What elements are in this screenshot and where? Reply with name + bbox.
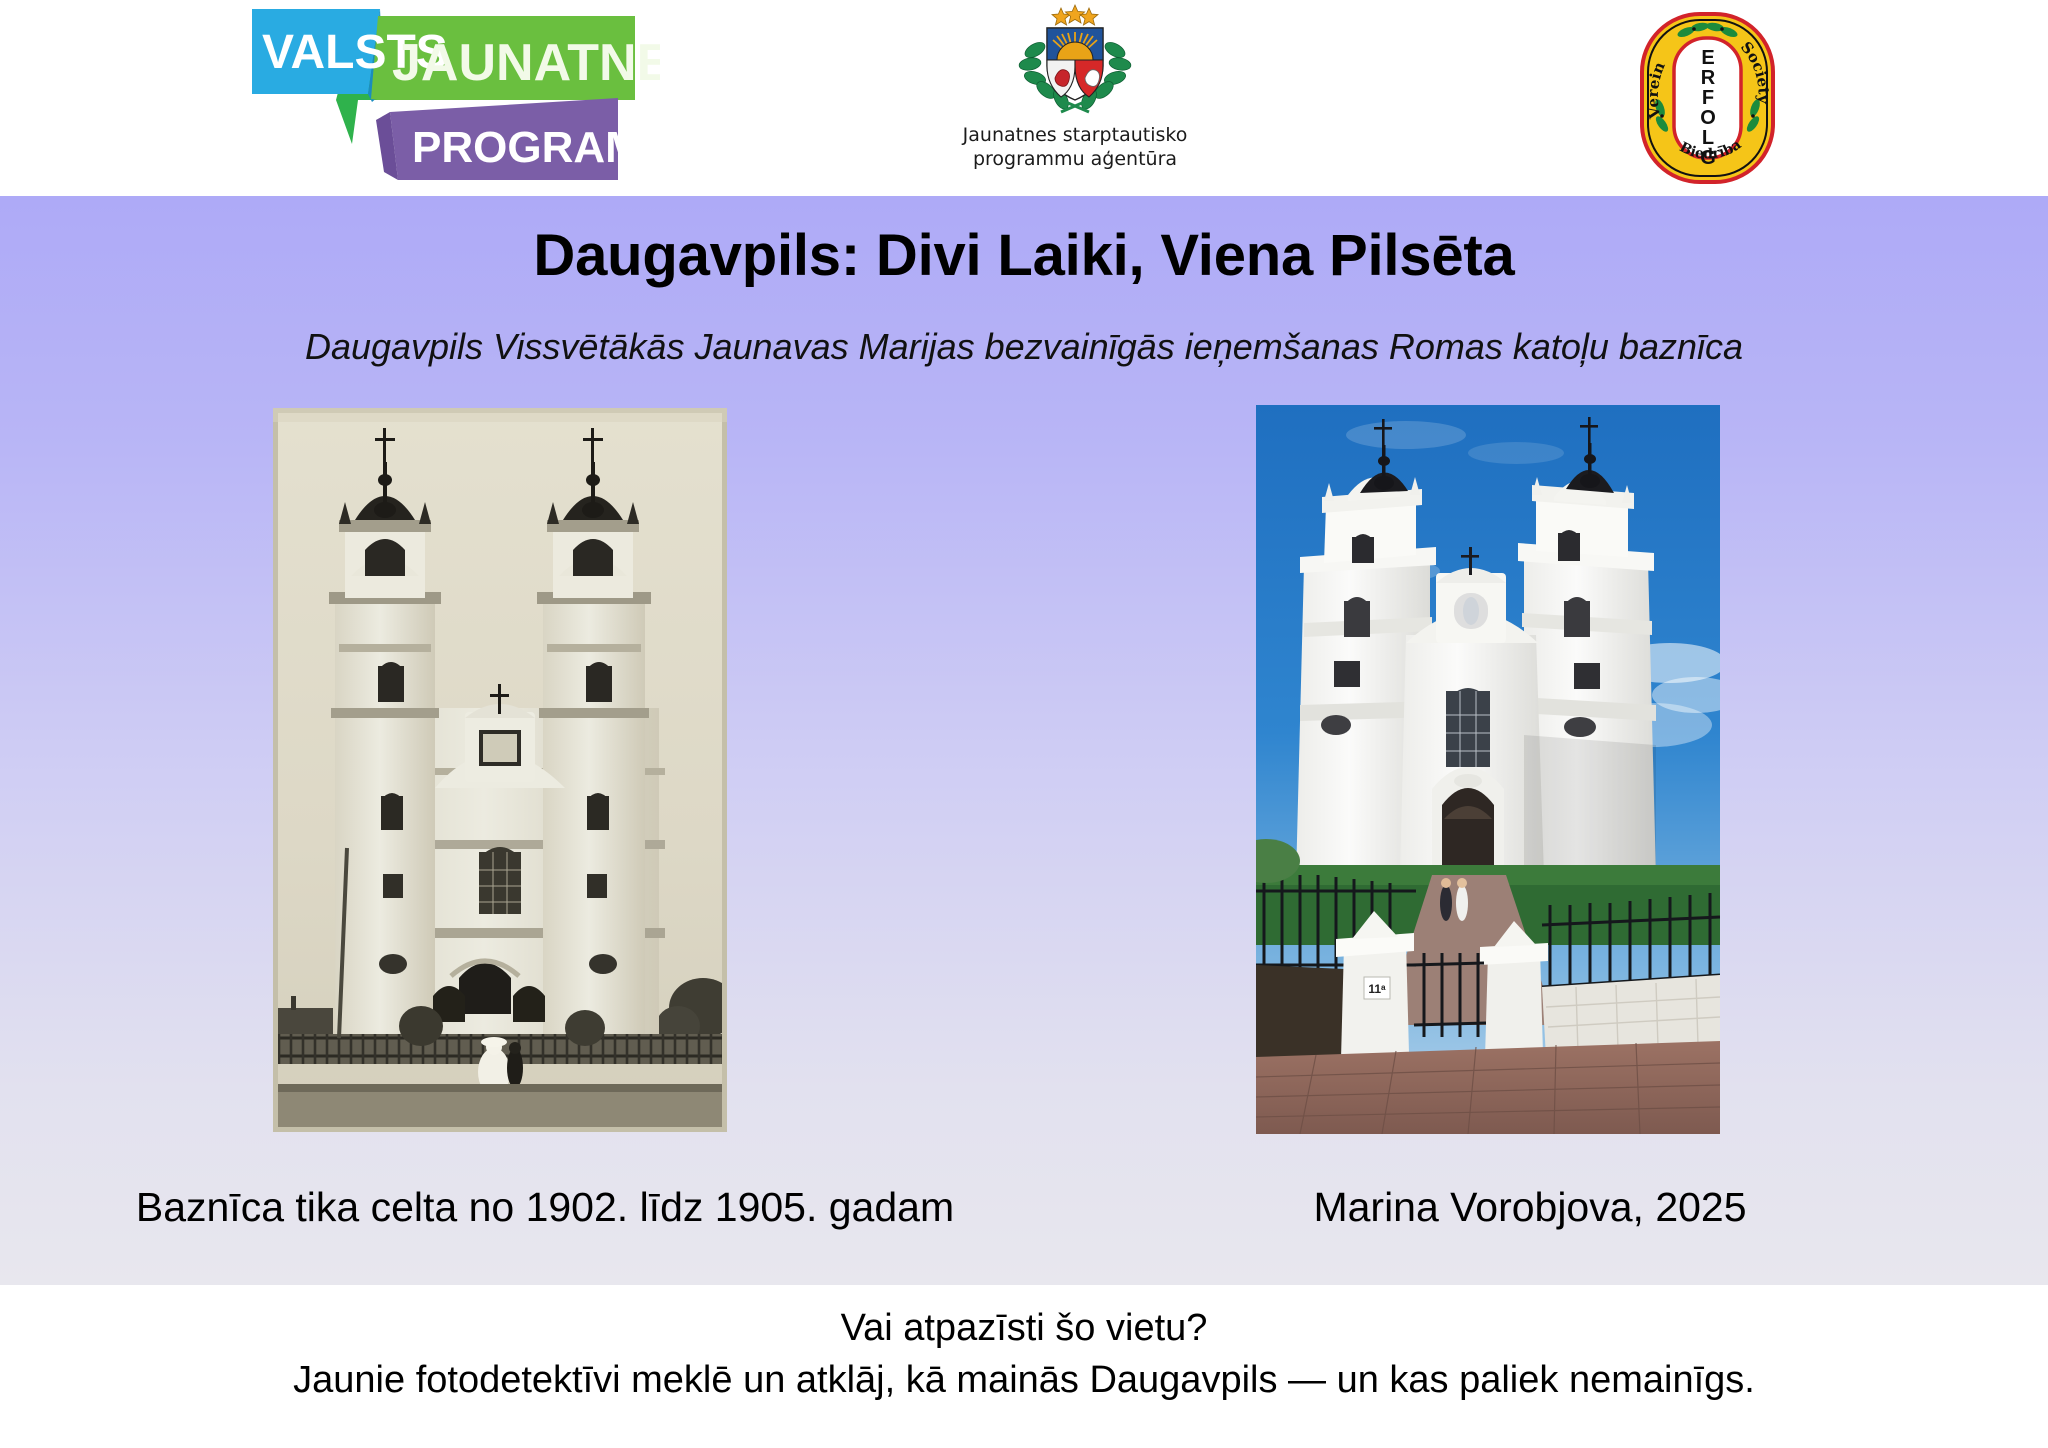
- valsts-jaunatnes-programma-logo: VALSTS JAUNATNES PROGRAMMA VALSTS JAUNAT…: [140, 4, 660, 186]
- gate-number-plate: 11ᵃ: [1368, 982, 1386, 996]
- agency-name-line1: Jaunatnes starptautisko: [950, 124, 1200, 148]
- svg-text:O: O: [1700, 107, 1716, 129]
- svg-text:PROGRAMMA: PROGRAMMA: [412, 123, 660, 172]
- footer-description: Jaunie fotodetektīvi meklē un atklāj, kā…: [0, 1359, 2048, 1402]
- svg-text:L: L: [1702, 127, 1714, 149]
- agency-block: Jaunatnes starptautisko programmu aģentū…: [950, 4, 1200, 172]
- historic-church-photo: [273, 408, 727, 1132]
- footer-question: Vai atpazīsti šo vietu?: [0, 1307, 2048, 1350]
- svg-text:JAUNATNES: JAUNATNES: [392, 34, 660, 92]
- latvia-coat-of-arms: [1013, 4, 1137, 122]
- historic-photo-caption: Baznīca tika celta no 1902. līdz 1905. g…: [0, 1184, 1090, 1231]
- header-bar: VALSTS JAUNATNES PROGRAMMA VALSTS JAUNAT…: [0, 0, 2048, 196]
- slide-body: Daugavpils: Divi Laiki, Viena Pilsēta Da…: [0, 196, 2048, 1285]
- modern-church-photo: 11ᵃ: [1256, 405, 1720, 1134]
- verein-erfolg-society-seal: Verein Society E R F O L G Biedrība: [1640, 12, 1775, 184]
- footer-bar: Vai atpazīsti šo vietu? Jaunie fotodetek…: [0, 1285, 2048, 1448]
- modern-photo-caption: Marina Vorobjova, 2025: [1090, 1184, 1970, 1231]
- agency-name-line2: programmu aģentūra: [950, 148, 1200, 172]
- svg-text:F: F: [1702, 87, 1714, 109]
- agency-name: Jaunatnes starptautisko programmu aģentū…: [950, 124, 1200, 172]
- svg-text:E: E: [1701, 47, 1714, 69]
- page-subtitle: Daugavpils Vissvētākās Jaunavas Marijas …: [0, 326, 2048, 368]
- svg-text:R: R: [1701, 67, 1716, 89]
- page-title: Daugavpils: Divi Laiki, Viena Pilsēta: [0, 222, 2048, 289]
